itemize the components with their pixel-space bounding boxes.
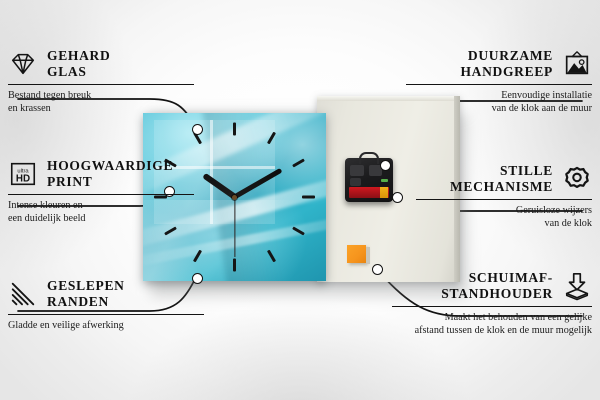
feature-subtitle: Eenvoudige installatie van de klok aan d… [382,89,592,115]
framed-picture-icon [562,49,592,79]
feature-polished-edges[interactable]: GESLEPEN RANDEN Gladde en veilige afwerk… [8,278,218,332]
feature-title: GESLEPEN RANDEN [47,278,125,310]
callout-endpoint-foam-spacer[interactable] [372,264,383,275]
feature-subtitle: Intense kleuren en een duidelijk beeld [8,199,218,225]
foam-spacer-pad [347,245,366,263]
polished-edges-icon [8,279,38,309]
feature-divider [392,306,592,307]
feature-foam-spacer[interactable]: SCHUIMAF- STANDHOUDER Maakt het behouden… [382,270,592,337]
feature-title: DUURZAME HANDGREEP [460,48,553,80]
ultra-hd-icon: ultra HD [8,159,38,189]
feature-divider [416,199,592,200]
diamond-icon [8,49,38,79]
feature-title: SCHUIMAF- STANDHOUDER [441,270,553,302]
feature-divider [8,194,194,195]
feature-header: DUURZAME HANDGREEP [382,48,592,80]
press-down-pad-icon [562,271,592,301]
feature-silent-mechanism[interactable]: STILLE MECHANISME Geruisloze wijzers van… [382,163,592,230]
gear-icon [562,164,592,194]
mechanism-slot [350,165,364,176]
callout-endpoint-tempered-glass[interactable] [192,124,203,135]
feature-header: ultra HD HOOGWAARDIGE PRINT [8,158,218,190]
feature-tempered-glass[interactable]: GEHARD GLAS Bestand tegen breuk en krass… [8,48,218,115]
feature-divider [8,314,204,315]
foam-pad-side [366,247,370,264]
feature-header: GEHARD GLAS [8,48,218,80]
mechanism-slot [350,178,361,186]
feature-title: HOOGWAARDIGE PRINT [47,158,173,190]
feature-header: GESLEPEN RANDEN [8,278,218,310]
feature-divider [8,84,194,85]
feature-subtitle: Geruisloze wijzers van de klok [382,204,592,230]
svg-text:HD: HD [16,173,30,184]
feature-subtitle: Maakt het behouden van een gelijke afsta… [382,311,592,337]
feature-header: SCHUIMAF- STANDHOUDER [382,270,592,302]
feature-divider [406,84,592,85]
feature-hd-print[interactable]: ultra HD HOOGWAARDIGE PRINT Intense kleu… [8,158,218,225]
feature-title: GEHARD GLAS [47,48,110,80]
clock-second-hand [234,197,235,257]
feature-subtitle: Gladde en veilige afwerking [8,319,218,332]
clock-center-pivot [232,195,237,200]
feature-title: STILLE MECHANISME [450,163,553,195]
infographic-canvas: GEHARD GLAS Bestand tegen breuk en krass… [0,0,600,400]
hanger-hook [359,152,379,164]
feature-subtitle: Bestand tegen breuk en krassen [8,89,218,115]
feature-header: STILLE MECHANISME [382,163,592,195]
feature-durable-hanger[interactable]: DUURZAME HANDGREEP Eenvoudige installati… [382,48,592,115]
